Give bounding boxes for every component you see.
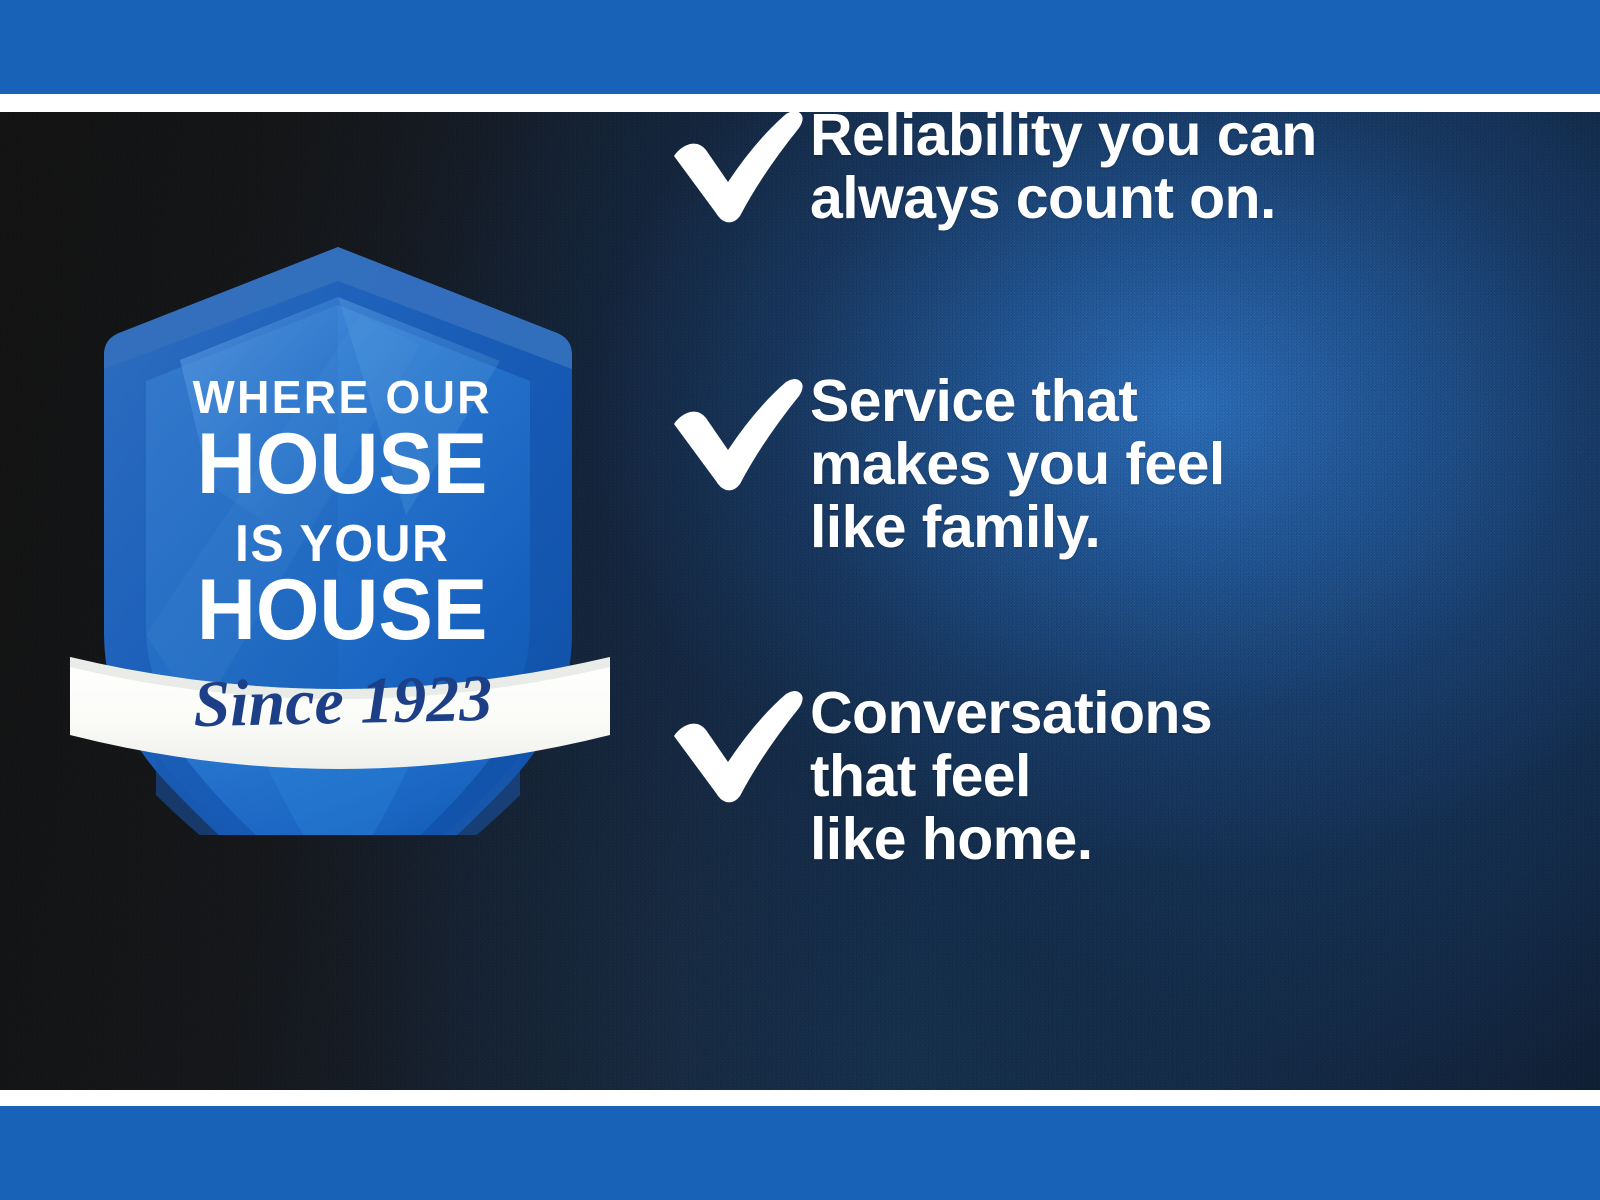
benefit-text-reliability: Reliability you can always count on. (810, 100, 1317, 230)
emblem-ribbon: Since 1923 (70, 657, 610, 769)
check-icon (660, 684, 810, 804)
emblem-ribbon-text: Since 1923 (193, 662, 493, 741)
emblem-line-4: HOUSE (197, 561, 487, 657)
bottom-brand-bar (0, 1106, 1600, 1200)
check-icon (660, 372, 810, 492)
emblem-line-2: HOUSE (197, 415, 487, 511)
benefit-text-conversations: Conversations that feel like home. (810, 680, 1212, 871)
promo-poster: WHERE OUR HOUSE IS YOUR HOUSE Since 1923… (0, 0, 1600, 1200)
benefit-item-reliability: Reliability you can always count on. (660, 100, 1317, 230)
shield-emblem: WHERE OUR HOUSE IS YOUR HOUSE Since 1923 (60, 155, 620, 835)
benefit-item-service: Service that makes you feel like family. (660, 368, 1225, 559)
emblem-wordmark: WHERE OUR HOUSE IS YOUR HOUSE (193, 371, 492, 657)
benefit-item-conversations: Conversations that feel like home. (660, 680, 1212, 871)
top-brand-bar (0, 0, 1600, 94)
check-icon (660, 104, 810, 224)
benefit-text-service: Service that makes you feel like family. (810, 368, 1225, 559)
